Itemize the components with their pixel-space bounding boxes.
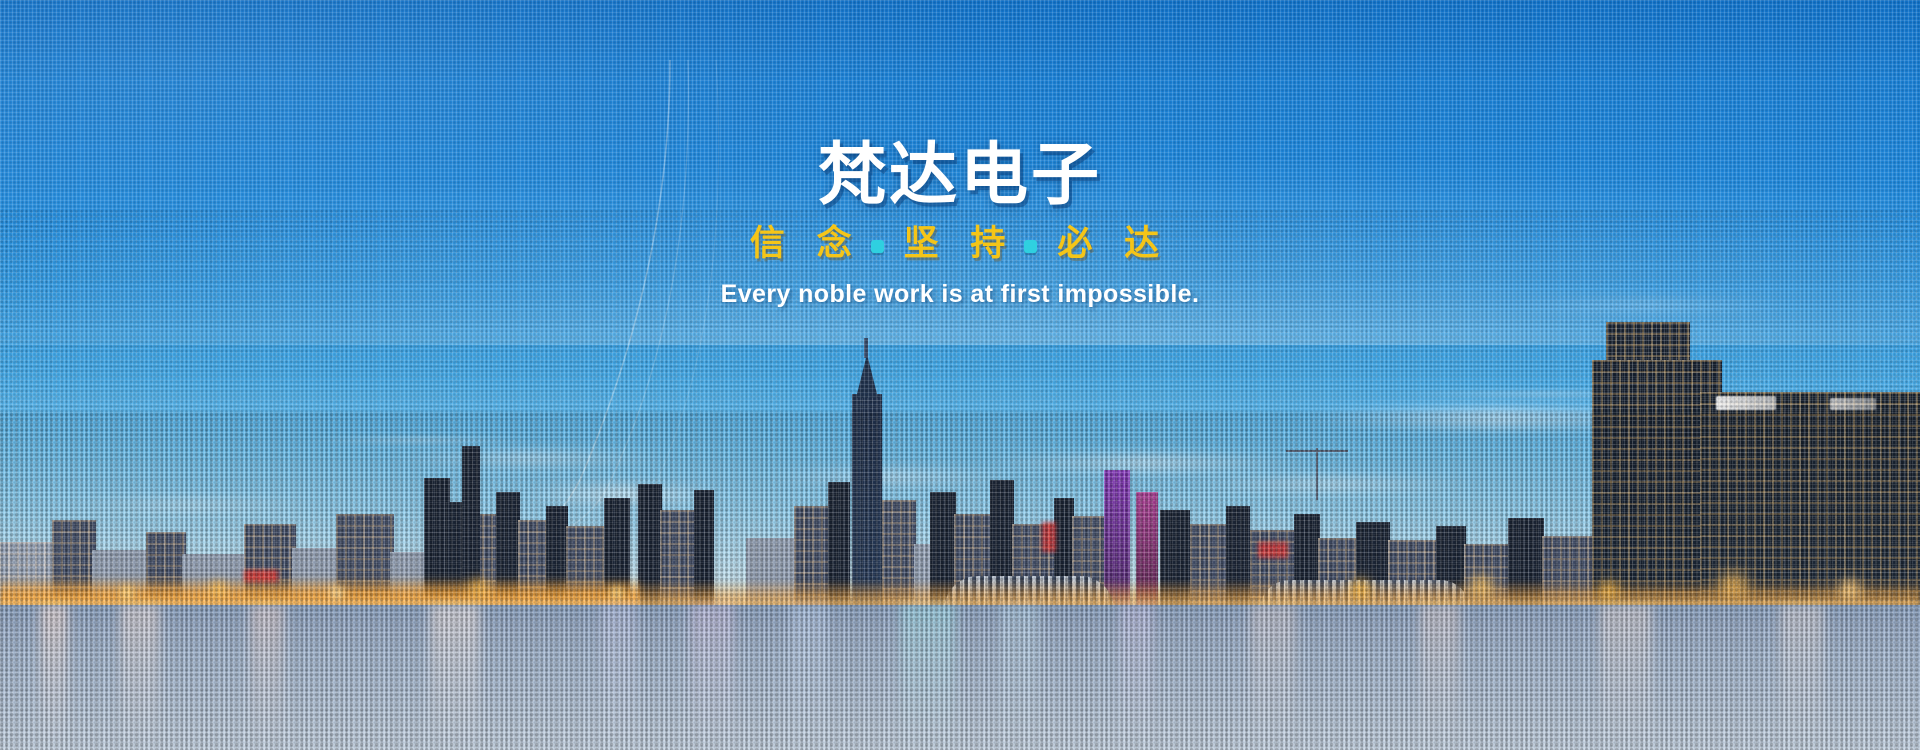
water-surface (0, 605, 1920, 750)
slogan: 信 念 坚 持 必 达 (0, 225, 1920, 264)
landmark-tower (852, 394, 882, 610)
slogan-word-1: 信 念 (748, 225, 865, 264)
hero-text-block: 梵达电子 信 念 坚 持 必 达 Every noble work is at … (0, 140, 1920, 309)
dot-separator-icon (1024, 240, 1037, 253)
hero-banner: 梵达电子 信 念 坚 持 必 达 Every noble work is at … (0, 0, 1920, 750)
slogan-word-3: 必 达 (1055, 225, 1172, 264)
dot-separator-icon (871, 240, 884, 253)
page-title: 梵达电子 (0, 140, 1920, 211)
slogan-word-2: 坚 持 (902, 225, 1019, 264)
mangrove-sign (1716, 396, 1776, 410)
tagline: Every noble work is at first impossible. (0, 280, 1920, 309)
